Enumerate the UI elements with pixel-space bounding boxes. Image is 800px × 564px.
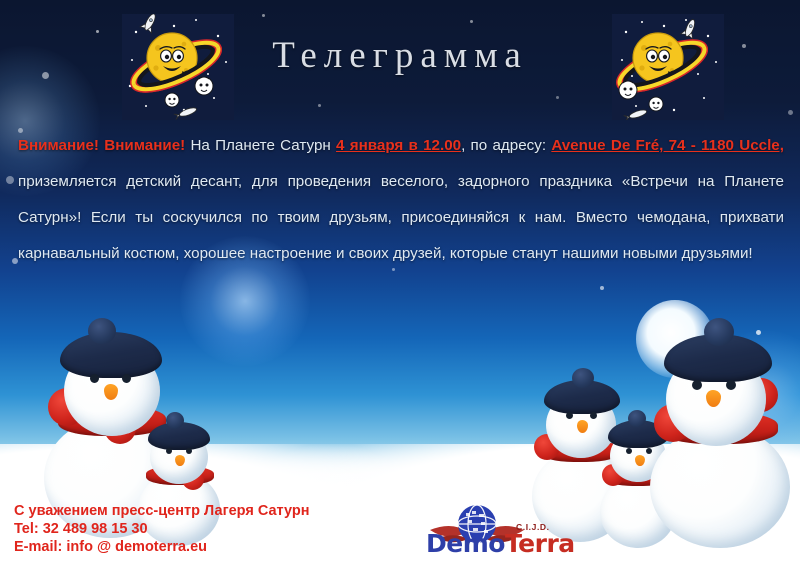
snowman-hat-pom — [704, 318, 734, 346]
intro-text: На Планете Сатурн — [190, 137, 330, 154]
email-address[interactable]: E-mail: info @ demoterra.eu — [14, 538, 310, 556]
address-lead-in: , по адресу: — [461, 137, 546, 154]
announcement-text: Внимание! Внимание! На Планете Сатурн 4 … — [18, 128, 784, 272]
saturn-mascot-right-icon — [612, 14, 724, 120]
footer-contact-block: С уважением пресс-центр Лагеря Сатурн Te… — [14, 502, 310, 556]
snowman-hat-pom — [166, 412, 184, 429]
logo-demo-text: Demo — [426, 529, 505, 558]
event-address: Avenue De Fré, 74 - 1180 Uccle, — [551, 137, 784, 154]
invitation-body: приземляется детский десант, для проведе… — [18, 173, 784, 262]
snowman-eye — [726, 380, 736, 390]
logo-wordmark: DemoTerra — [426, 529, 575, 558]
snowman-eye — [566, 412, 573, 419]
snowman-eye — [692, 380, 702, 390]
snowman-eye — [186, 448, 192, 454]
attention-label-1: Внимание! — [18, 137, 99, 154]
snowman-large-right — [640, 334, 800, 539]
snowman-eye — [90, 374, 99, 383]
poster-header: Телеграмма — [0, 0, 800, 122]
star — [6, 176, 14, 184]
attention-label-2: Внимание! — [104, 137, 185, 154]
phone-number: Tel: 32 489 98 15 30 — [14, 520, 310, 538]
snowman-hat-pom — [572, 368, 594, 388]
telegram-poster: Телеграмма — [0, 0, 800, 564]
logo-terra-text: Terra — [505, 529, 575, 558]
snowman-hat-pom — [88, 318, 116, 344]
snowman-eye — [626, 448, 632, 454]
press-center-signature: С уважением пресс-центр Лагеря Сатурн — [14, 502, 310, 520]
snowman-eye — [166, 448, 172, 454]
event-datetime: 4 января в 12.00 — [336, 137, 461, 154]
star — [600, 286, 604, 290]
demoterra-logo: C.I.J.D. DemoTerra — [424, 500, 584, 558]
snowman-eye — [122, 374, 131, 383]
